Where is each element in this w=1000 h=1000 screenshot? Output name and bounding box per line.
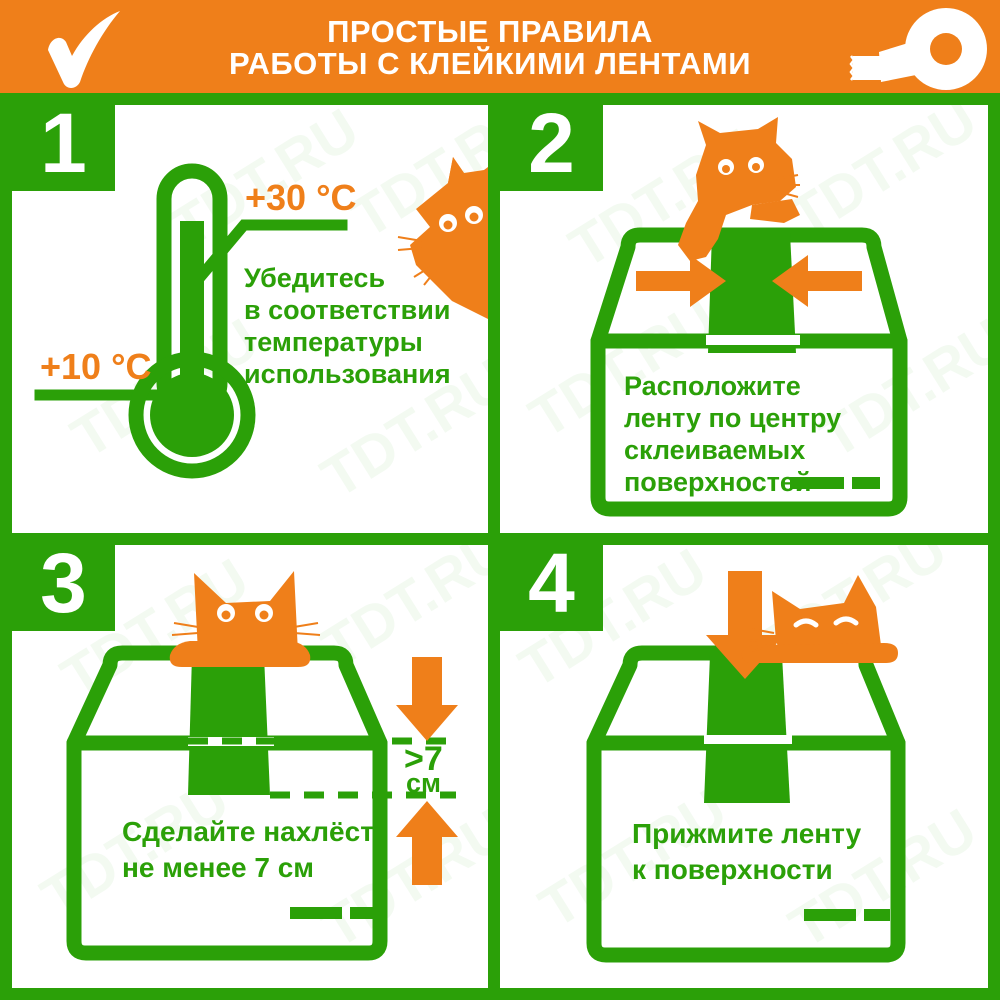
caption-line: ленту по центру: [624, 403, 841, 433]
caption-line: поверхностей: [624, 467, 812, 497]
panel-step-3: TDT.RU TDT.RU TDT.RU TDT.RU: [12, 545, 488, 988]
caption-line: Сделайте нахлёст: [122, 816, 374, 847]
tape-strip: [188, 655, 270, 795]
step-number-badge-2: 2: [500, 105, 603, 191]
panel-step-2: TDT.RU TDT.RU TDT.RU TDT.RU: [500, 105, 988, 533]
header-title: ПРОСТЫЕ ПРАВИЛА РАБОТЫ С КЛЕЙКИМИ ЛЕНТАМ…: [130, 6, 850, 90]
step-number: 1: [40, 105, 87, 182]
box-label-marks: [290, 907, 376, 919]
step-number: 3: [40, 545, 87, 622]
caption-line: использования: [244, 359, 451, 389]
caption-line: не менее 7 см: [122, 852, 314, 883]
measure-unit: см: [406, 768, 441, 798]
panel-4-caption: Прижмите ленту к поверхности: [632, 818, 862, 885]
caption-line: Убедитесь: [244, 263, 385, 293]
caption-line: склеиваемых: [624, 435, 805, 465]
checkmark-icon: [36, 8, 136, 90]
panel-3-caption: Сделайте нахлёст не менее 7 см: [122, 816, 374, 883]
infographic-poster: ПРОСТЫЕ ПРАВИЛА РАБОТЫ С КЛЕЙКИМИ ЛЕНТАМ…: [0, 0, 1000, 1000]
caption-line: к поверхности: [632, 854, 833, 885]
step-number: 2: [528, 105, 575, 182]
step-number-badge-3: 3: [12, 545, 115, 631]
step-number-badge-4: 4: [500, 545, 603, 631]
temp-low-label: +10 °C: [40, 346, 151, 387]
caption-line: температуры: [244, 327, 423, 357]
panel-step-1: TDT.RU TDT.RU TDT.RU TDT.RU: [12, 105, 488, 533]
arrow-up-icon: [396, 801, 458, 885]
header-bar: ПРОСТЫЕ ПРАВИЛА РАБОТЫ С КЛЕЙКИМИ ЛЕНТАМ…: [0, 0, 1000, 93]
caption-line: в соответствии: [244, 295, 450, 325]
step-number-badge-1: 1: [12, 105, 115, 191]
header-title-line2: РАБОТЫ С КЛЕЙКИМИ ЛЕНТАМИ: [229, 48, 751, 80]
caption-line: Прижмите ленту: [632, 818, 862, 849]
box-label-marks: [804, 909, 890, 921]
cat-front-paws-on-box: [170, 571, 320, 667]
temp-high-label: +30 °C: [245, 177, 356, 218]
caption-line: Расположите: [624, 371, 801, 401]
header-title-line1: ПРОСТЫЕ ПРАВИЛА: [327, 16, 653, 48]
tape-strip: [704, 655, 790, 803]
thermometer-icon: [136, 171, 248, 471]
cat-lying-sleepy: [742, 575, 898, 663]
panel-step-4: TDT.RU TDT.RU TDT.RU TDT.RU: [500, 545, 988, 988]
step-number: 4: [528, 545, 575, 622]
panel-1-caption: Убедитесь в соответствии температуры исп…: [244, 263, 451, 389]
box-label-marks: [790, 477, 880, 489]
arrow-down-icon: [396, 657, 458, 741]
tape-roll-icon: [845, 6, 995, 92]
